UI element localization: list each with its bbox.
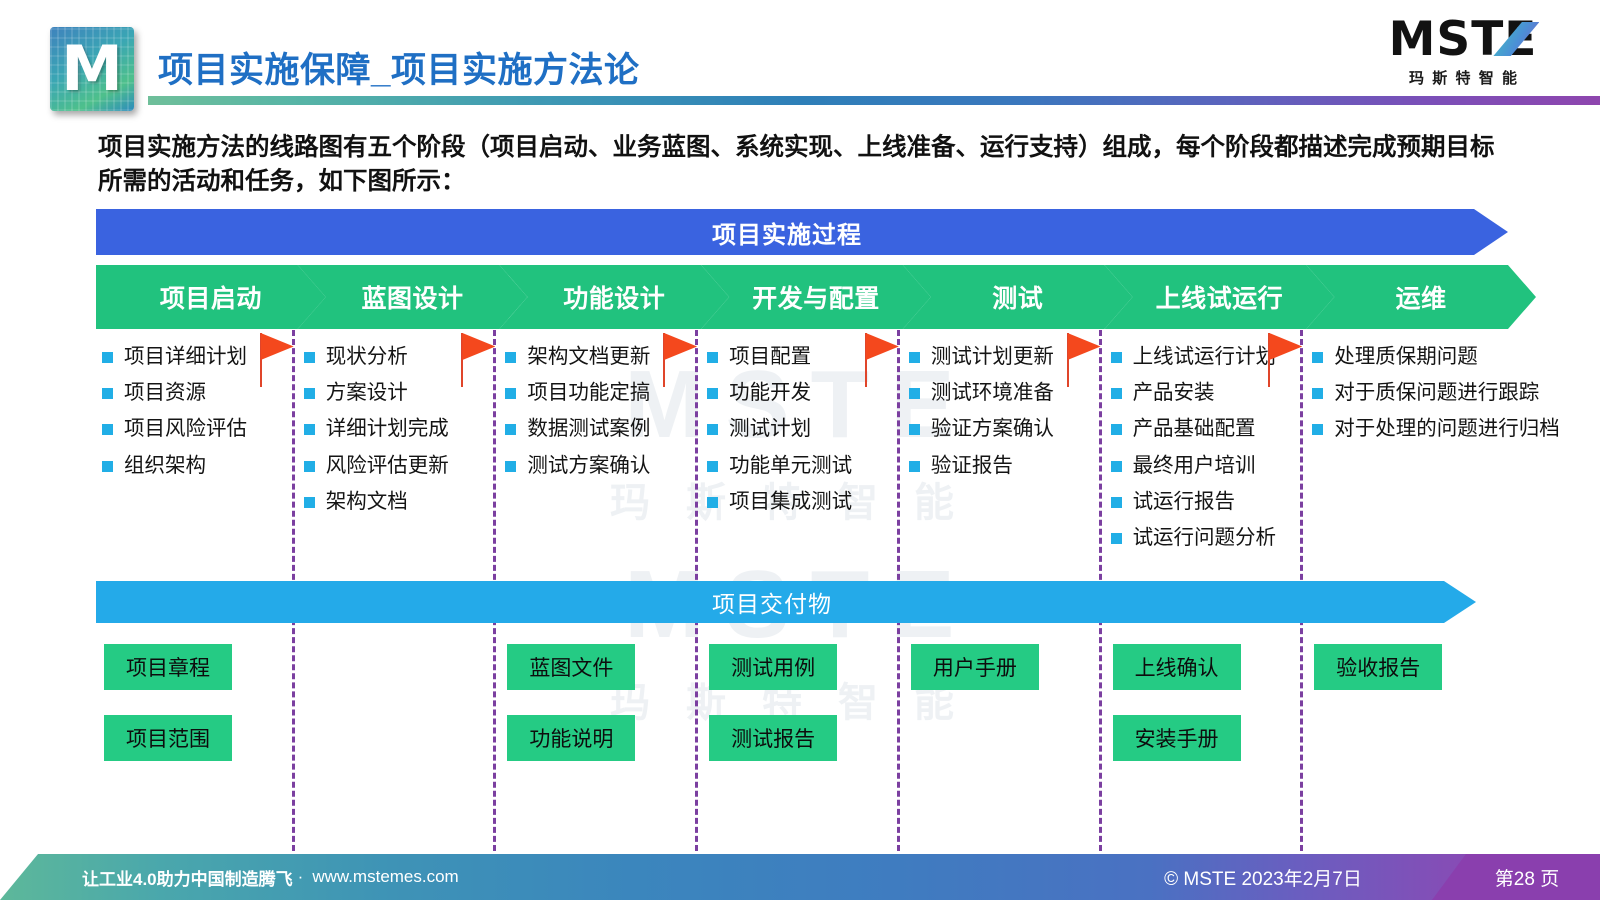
activity-item: 风险评估更新 (304, 453, 502, 479)
activity-item: 架构文档 (304, 489, 502, 515)
flag-cloth (261, 333, 294, 360)
bullet-square-icon (102, 424, 113, 435)
bullet-square-icon (304, 461, 315, 472)
brand-subtitle: 玛斯特智能 (1348, 67, 1578, 88)
deliverables-banner: 项目交付物 (96, 581, 1476, 623)
activity-item: 试运行报告 (1111, 489, 1309, 515)
milestone-flag-icon-5 (1067, 333, 1107, 387)
activity-item-label: 架构文档 (326, 489, 408, 515)
bullet-square-icon (304, 352, 315, 363)
footer-page-number: 第28 页 (1495, 864, 1559, 891)
phase-chevron-4[interactable]: 开发与配置 (701, 265, 931, 329)
mste-brand-logo: MSTE 玛斯特智能 (1348, 16, 1578, 88)
footer-mid-band: © MSTE 2023年2月7日 (1150, 854, 1480, 900)
deliverable-box[interactable]: 安装手册 (1113, 715, 1241, 761)
deliverable-box[interactable]: 测试报告 (709, 715, 837, 761)
footer-slogan-group: 让工业4.0助力中国制造腾飞 · www.mstemes.com (82, 854, 459, 900)
bullet-square-icon (707, 352, 718, 363)
deliverable-box-label: 项目章程 (126, 652, 210, 682)
slide-root: MSTE 玛斯特智能 MSTE 玛斯特智能 M 项目实施保障_项目实施方法论 M… (0, 0, 1600, 900)
deliverable-box-label: 蓝图文件 (529, 652, 613, 682)
footer-left-band: 让工业4.0助力中国制造腾飞 · www.mstemes.com (0, 854, 1150, 900)
activity-item-label: 详细计划完成 (326, 416, 449, 442)
deliverable-box-label: 上线确认 (1135, 652, 1219, 682)
activity-item-label: 现状分析 (326, 344, 408, 370)
activity-item: 对于处理的问题进行归档 (1312, 416, 1510, 442)
activity-item: 最终用户培训 (1111, 453, 1309, 479)
milestone-flag-icon-1 (260, 333, 300, 387)
deliverable-box[interactable]: 蓝图文件 (507, 644, 635, 690)
deliverable-box-label: 用户手册 (933, 652, 1017, 682)
milestone-flag-icon-3 (663, 333, 703, 387)
deliverables-banner-label: 项目交付物 (712, 585, 832, 619)
phase-chevron-label: 蓝图设计 (362, 279, 464, 315)
bullet-square-icon (505, 424, 516, 435)
phase-chevron-7[interactable]: 运维 (1306, 265, 1536, 329)
logo-letter: M (50, 27, 134, 111)
footer-slogan: 让工业4.0助力中国制造腾飞 (82, 865, 293, 890)
activity-item: 处理质保期问题 (1312, 344, 1510, 370)
activity-item-label: 上线试运行计划 (1133, 344, 1277, 370)
bullet-square-icon (505, 352, 516, 363)
phase-chevron-row: 项目启动蓝图设计功能设计开发与配置测试上线试运行运维 (96, 265, 1508, 329)
company-logo-icon: M (50, 27, 134, 111)
phase-chevron-label: 功能设计 (563, 279, 665, 315)
phase-chevron-2[interactable]: 蓝图设计 (298, 265, 528, 329)
bullet-square-icon (1111, 497, 1122, 508)
activity-item-label: 测试方案确认 (527, 453, 650, 479)
activity-item: 验证报告 (909, 453, 1107, 479)
activity-item-label: 项目资源 (124, 380, 206, 406)
bullet-square-icon (304, 497, 315, 508)
activity-item-label: 功能开发 (729, 380, 811, 406)
page-title: 项目实施保障_项目实施方法论 (158, 42, 639, 93)
bullet-square-icon (707, 388, 718, 399)
activity-item-label: 测试环境准备 (931, 380, 1054, 406)
deliverable-box-label: 测试用例 (731, 652, 815, 682)
process-banner-label: 项目实施过程 (712, 215, 862, 250)
deliverable-box[interactable]: 项目章程 (104, 644, 232, 690)
bullet-square-icon (909, 352, 920, 363)
activity-item: 对于质保问题进行跟踪 (1312, 380, 1510, 406)
activity-item-label: 验证报告 (931, 453, 1013, 479)
activity-item: 测试计划 (707, 416, 905, 442)
deliverable-box-label: 测试报告 (731, 723, 815, 753)
bullet-square-icon (909, 388, 920, 399)
bullet-square-icon (1111, 424, 1122, 435)
phase-chevron-label: 运维 (1396, 279, 1447, 315)
activity-item-label: 项目集成测试 (729, 489, 852, 515)
phase-chevron-6[interactable]: 上线试运行 (1105, 265, 1335, 329)
activity-item-label: 项目配置 (729, 344, 811, 370)
bullet-square-icon (707, 424, 718, 435)
activity-item-label: 方案设计 (326, 380, 408, 406)
activity-item-label: 对于处理的问题进行归档 (1334, 416, 1560, 442)
bullet-square-icon (102, 388, 113, 399)
flag-cloth (462, 333, 495, 360)
bullet-square-icon (505, 461, 516, 472)
bullet-square-icon (1312, 424, 1323, 435)
activity-item-label: 项目详细计划 (124, 344, 247, 370)
deliverable-box[interactable]: 功能说明 (507, 715, 635, 761)
phase-chevron-label: 项目启动 (160, 279, 262, 315)
activity-item: 项目集成测试 (707, 489, 905, 515)
deliverable-box[interactable]: 测试用例 (709, 644, 837, 690)
activity-item-label: 试运行问题分析 (1133, 525, 1277, 551)
activity-item: 详细计划完成 (304, 416, 502, 442)
flag-cloth (664, 333, 697, 360)
activity-item-label: 风险评估更新 (326, 453, 449, 479)
activity-item: 验证方案确认 (909, 416, 1107, 442)
footer-separator: · (298, 867, 304, 887)
phase-chevron-5[interactable]: 测试 (903, 265, 1133, 329)
activity-item-label: 最终用户培训 (1133, 453, 1256, 479)
activity-item-label: 验证方案确认 (931, 416, 1054, 442)
bullet-square-icon (1312, 352, 1323, 363)
milestone-flag-icon-4 (865, 333, 905, 387)
phase-chevron-label: 上线试运行 (1156, 279, 1284, 315)
phase-chevron-label: 开发与配置 (752, 279, 880, 315)
milestone-flag-icon-2 (461, 333, 501, 387)
bullet-square-icon (1312, 388, 1323, 399)
activity-item-label: 处理质保期问题 (1334, 344, 1478, 370)
activity-item-label: 测试计划更新 (931, 344, 1054, 370)
activity-item: 测试方案确认 (505, 453, 703, 479)
footer-copyright: © MSTE 2023年2月7日 (1098, 854, 1428, 900)
bullet-square-icon (707, 461, 718, 472)
deliverable-box-label: 安装手册 (1135, 723, 1219, 753)
bullet-square-icon (1111, 388, 1122, 399)
slide-footer: 让工业4.0助力中国制造腾飞 · www.mstemes.com © MSTE … (0, 854, 1600, 900)
phase-chevron-3[interactable]: 功能设计 (499, 265, 729, 329)
activity-item-label: 数据测试案例 (527, 416, 650, 442)
activity-column-7: 处理质保期问题对于质保问题进行跟踪对于处理的问题进行归档 (1312, 344, 1510, 453)
deliverable-box-label: 项目范围 (126, 723, 210, 753)
milestone-flag-icon-6 (1268, 333, 1308, 387)
deliverable-box[interactable]: 验收报告 (1314, 644, 1442, 690)
activity-item-label: 测试计划 (729, 416, 811, 442)
bullet-square-icon (304, 388, 315, 399)
deliverable-box[interactable]: 项目范围 (104, 715, 232, 761)
phase-chevron-1[interactable]: 项目启动 (96, 265, 326, 329)
phase-chevron-label: 测试 (992, 279, 1043, 315)
bullet-square-icon (102, 352, 113, 363)
activity-item-label: 项目风险评估 (124, 416, 247, 442)
activity-item: 产品基础配置 (1111, 416, 1309, 442)
activity-item-label: 组织架构 (124, 453, 206, 479)
footer-url[interactable]: www.mstemes.com (312, 867, 458, 887)
deliverable-box-label: 验收报告 (1336, 652, 1420, 682)
flag-cloth (1068, 333, 1101, 360)
deliverable-box[interactable]: 上线确认 (1113, 644, 1241, 690)
deliverable-box[interactable]: 用户手册 (911, 644, 1039, 690)
bullet-square-icon (707, 497, 718, 508)
header-gradient-rule (148, 96, 1600, 105)
bullet-square-icon (909, 424, 920, 435)
activity-item-label: 产品安装 (1133, 380, 1215, 406)
activity-item: 项目风险评估 (102, 416, 300, 442)
activity-item: 组织架构 (102, 453, 300, 479)
flag-cloth (866, 333, 899, 360)
activity-item-label: 项目功能定搞 (527, 380, 650, 406)
bullet-square-icon (1111, 461, 1122, 472)
bullet-square-icon (102, 461, 113, 472)
activity-item: 试运行问题分析 (1111, 525, 1309, 551)
deliverable-box-label: 功能说明 (529, 723, 613, 753)
activity-item-label: 产品基础配置 (1133, 416, 1256, 442)
activity-item-label: 架构文档更新 (527, 344, 650, 370)
bullet-square-icon (909, 461, 920, 472)
activity-item-label: 功能单元测试 (729, 453, 852, 479)
brand-wordmark: MSTE (1389, 16, 1538, 63)
activity-item: 数据测试案例 (505, 416, 703, 442)
activity-item-label: 对于质保问题进行跟踪 (1334, 380, 1539, 406)
process-banner: 项目实施过程 (96, 209, 1508, 255)
bullet-square-icon (1111, 352, 1122, 363)
flag-cloth (1269, 333, 1302, 360)
bullet-square-icon (505, 388, 516, 399)
activity-item: 功能单元测试 (707, 453, 905, 479)
bullet-square-icon (304, 424, 315, 435)
intro-paragraph: 项目实施方法的线路图有五个阶段（项目启动、业务蓝图、系统实现、上线准备、运行支持… (98, 131, 1506, 199)
bullet-square-icon (1111, 533, 1122, 544)
activity-item-label: 试运行报告 (1133, 489, 1236, 515)
